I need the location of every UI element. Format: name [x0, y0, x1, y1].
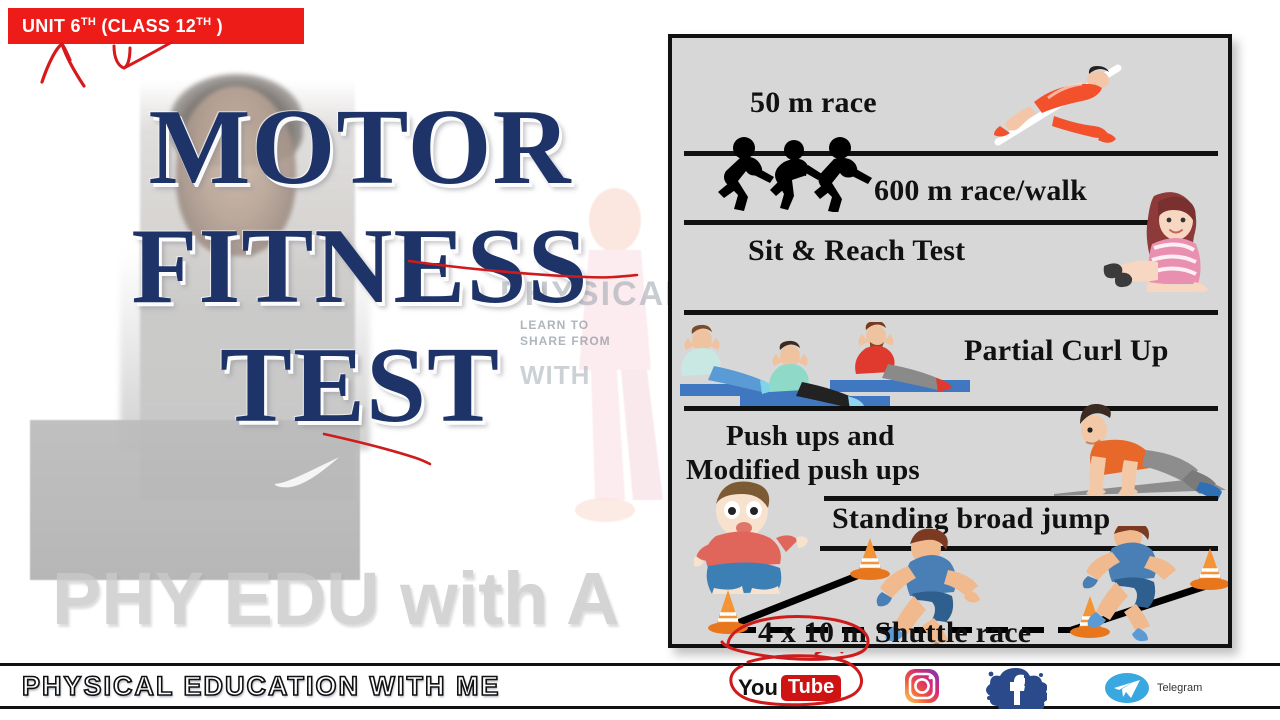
youtube-logo[interactable]: You Tube	[738, 675, 841, 701]
panel-separator-3	[684, 310, 1218, 315]
footer-brand-text: PHYSICAL EDUCATION WITH ME	[22, 671, 501, 702]
instagram-icon	[904, 668, 940, 704]
motor-fitness-test-panel: 50 m race	[668, 34, 1232, 648]
panel-item-label-600m: 600 m race/walk	[874, 174, 1087, 208]
runners-silhouette-icon	[716, 134, 876, 212]
telegram-label: Telegram	[1157, 682, 1202, 694]
watermark-big-brand: PHY EDU with A	[52, 556, 619, 641]
slide-title: MOTOR FITNESS TEST	[60, 96, 660, 438]
unit-banner: UNIT 6TH (CLASS 12TH )	[8, 8, 304, 44]
youtube-tube-label: Tube	[781, 675, 841, 701]
youtube-you-label: You	[738, 675, 778, 701]
nike-swoosh-icon	[272, 455, 342, 489]
sprinter-red-icon	[990, 62, 1130, 150]
panel-item-label-50m: 50 m race	[750, 86, 877, 120]
title-line-2: FITNESS	[60, 215, 660, 320]
facebook-logo[interactable]	[985, 666, 1047, 715]
panel-item-label-shuttle-race: 4 x 10 m Shuttle race	[758, 616, 1031, 648]
footer-bar: PHYSICAL EDUCATION WITH ME You Tube	[0, 663, 1280, 709]
facebook-icon	[985, 666, 1047, 710]
slide-canvas: PHYSICAL ED LEARN TO SHARE FROM WITH PHY…	[0, 0, 1280, 720]
curl-up-group-icon	[680, 322, 970, 410]
panel-item-label-sit-reach: Sit & Reach Test	[748, 234, 965, 268]
panel-item-label-partial-curl-up: Partial Curl Up	[964, 334, 1169, 368]
telegram-logo[interactable]: Telegram	[1105, 672, 1202, 704]
telegram-icon	[1105, 672, 1151, 704]
bottom-strip	[0, 709, 1280, 720]
panel-separator-5	[824, 496, 1218, 501]
girl-sit-reach-icon	[1082, 186, 1222, 302]
unit-banner-label: UNIT 6TH (CLASS 12TH )	[22, 16, 223, 37]
title-line-3: TEST	[60, 334, 660, 439]
push-up-man-icon	[1050, 404, 1230, 508]
title-line-1: MOTOR	[60, 96, 660, 201]
panel-item-label-pushups-line1: Push ups and	[726, 420, 894, 453]
